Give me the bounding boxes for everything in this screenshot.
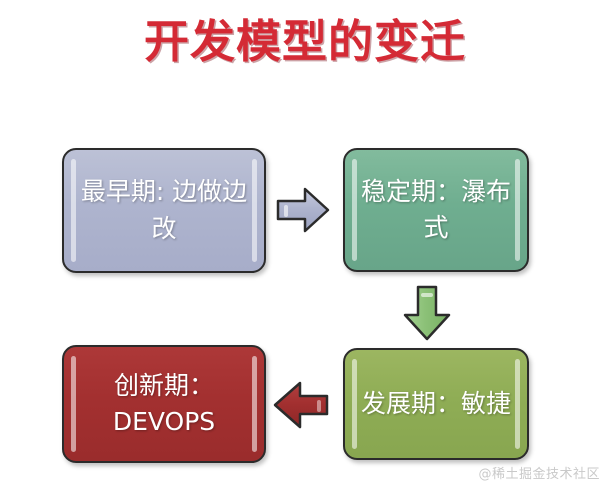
node-earliest[interactable]: 最早期: 边做边改 [62,148,266,273]
node-earliest-label: 最早期: 边做边改 [80,174,248,247]
node-innovation-label: 创新期：DEVOPS [80,368,248,441]
diagram-canvas: 开发模型的变迁 最早期: 边做边改 稳定期：瀑布式 发展期：敏捷 创新期：DEV… [0,0,610,491]
node-stable[interactable]: 稳定期：瀑布式 [343,148,529,272]
arrow-down-icon [400,284,454,342]
arrow-left-icon [272,378,330,432]
node-stable-label: 稳定期：瀑布式 [361,174,511,247]
watermark: @稀土掘金技术社区 [478,463,600,482]
node-growth[interactable]: 发展期：敏捷 [343,348,529,460]
node-innovation[interactable]: 创新期：DEVOPS [62,345,266,463]
arrow-right-icon [275,184,331,236]
node-growth-label: 发展期：敏捷 [361,386,511,422]
page-title: 开发模型的变迁 [0,18,610,65]
